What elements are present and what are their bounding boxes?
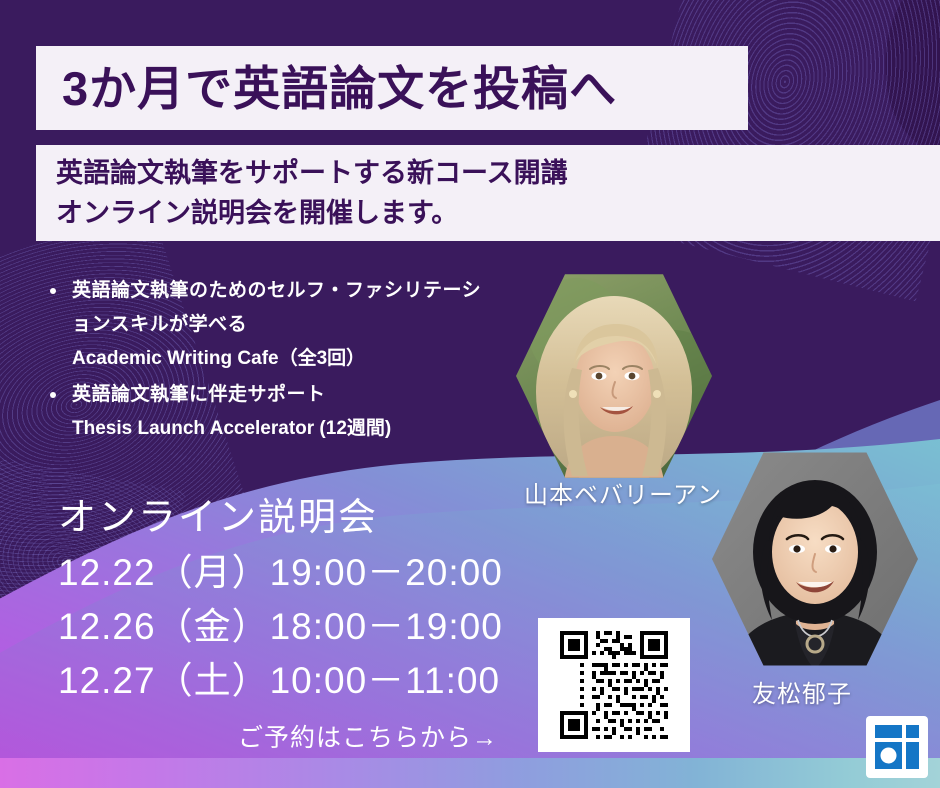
subtitle-line-2: オンライン説明会を開催します。 [56,193,940,233]
list-item-line: Academic Writing Cafe（全3回） [72,342,544,376]
bullet-dot-icon [50,392,56,398]
presenter-name-1: 山本ベバリーアン [524,475,722,510]
list-item: 英語論文執筆のためのセルフ・ファシリテーシ ョンスキルが学べる Academic… [44,274,544,376]
list-item-line: Thesis Launch Accelerator (12週間) [72,412,544,446]
subtitle-line-1: 英語論文執筆をサポートする新コース開講 [56,153,940,193]
qr-code-icon [556,627,672,743]
bullet-dot-icon [50,288,56,294]
reservation-call-to-action: ご予約はこちらから→ [238,718,498,754]
schedule-section: オンライン説明会 12.22（月）19:00－20:00 12.26（金）18:… [58,492,503,708]
list-item-line: ョンスキルが学べる [72,308,544,342]
list-item-line: 英語論文執筆のためのセルフ・ファシリテーシ [72,274,544,308]
page-title: 3か月で英語論文を投稿へ [36,46,748,130]
organization-logo [866,716,928,778]
course-list: 英語論文執筆のためのセルフ・ファシリテーシ ョンスキルが学べる Academic… [44,274,544,448]
organization-logo-icon [875,725,919,769]
poster-canvas: 3か月で英語論文を投稿へ 英語論文執筆をサポートする新コース開講 オンライン説明… [0,0,940,788]
reservation-qr-code[interactable] [538,618,690,752]
schedule-session: 12.27（土）10:00－11:00 [58,654,503,708]
list-item-line: 英語論文執筆に伴走サポート [72,378,544,412]
page-title-text: 3か月で英語論文を投稿へ [62,65,617,112]
list-item: 英語論文執筆に伴走サポート Thesis Launch Accelerator … [44,378,544,446]
schedule-session: 12.26（金）18:00－19:00 [58,600,503,654]
bottom-accent-strip [0,758,940,788]
presenter-name-2: 友松郁子 [752,674,852,709]
schedule-session: 12.22（月）19:00－20:00 [58,546,503,600]
subtitle-panel: 英語論文執筆をサポートする新コース開講 オンライン説明会を開催します。 [36,145,940,241]
schedule-heading: オンライン説明会 [58,492,503,544]
